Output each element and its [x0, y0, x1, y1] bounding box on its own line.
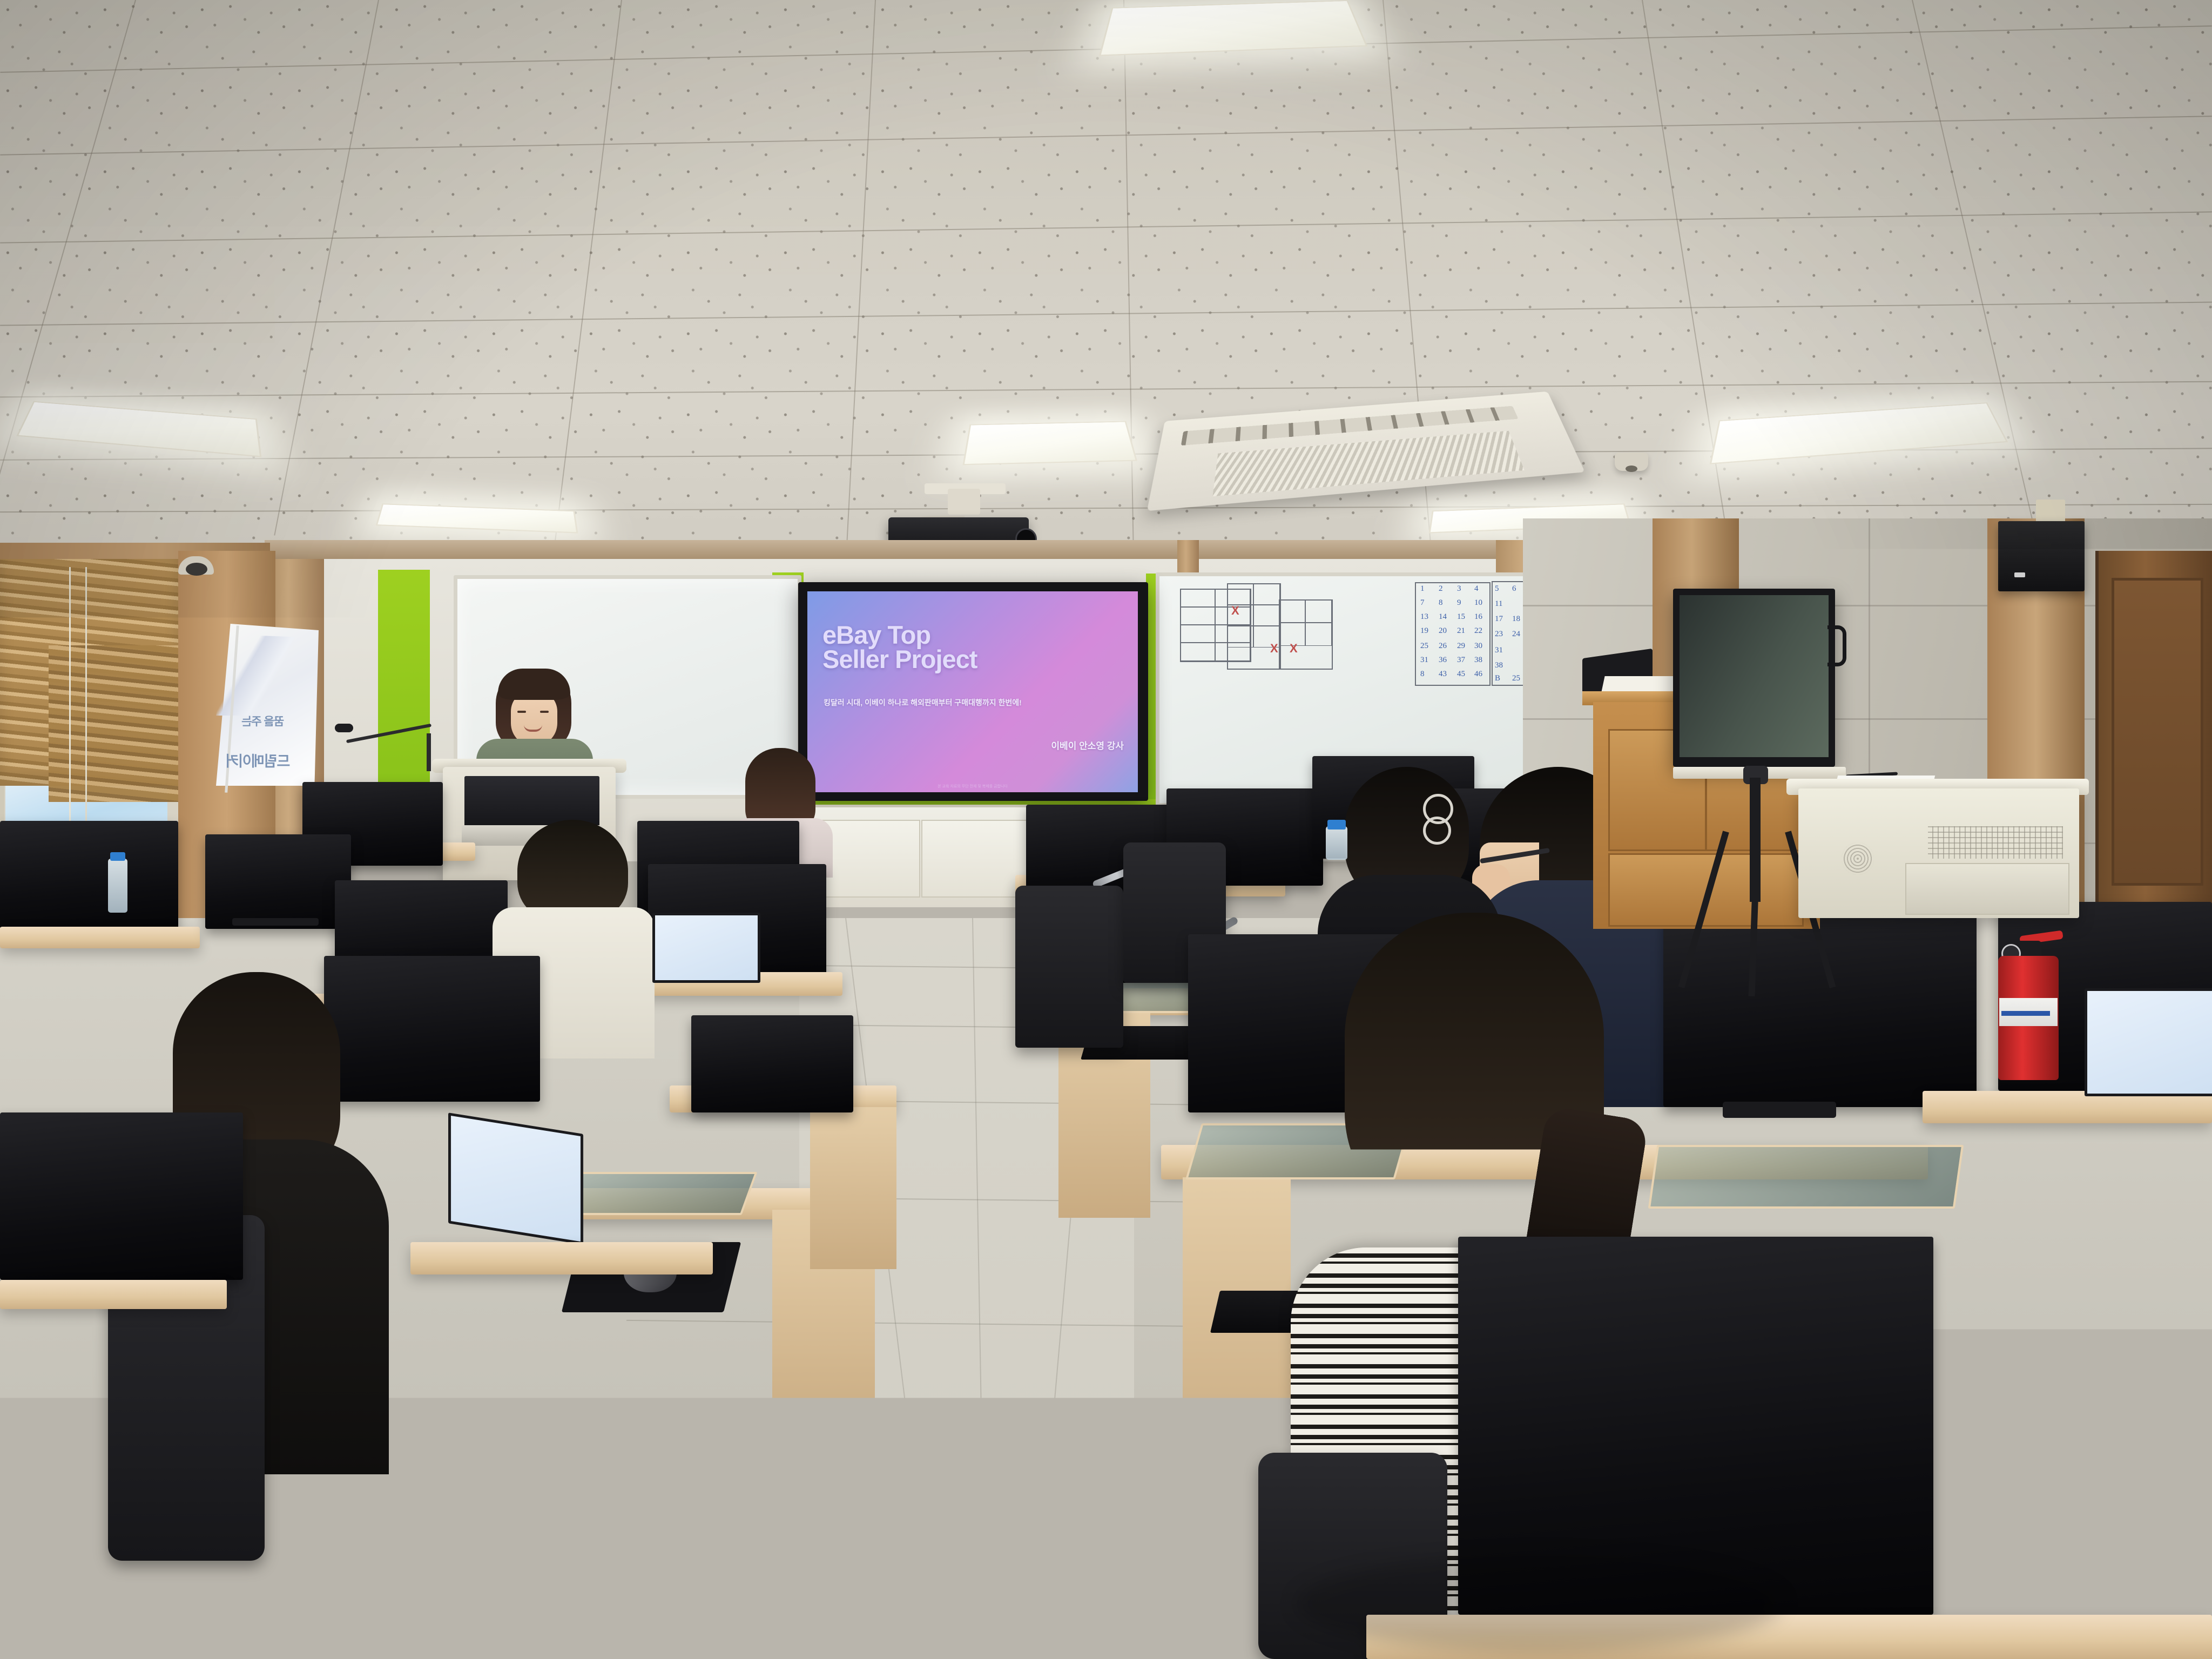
- monitor: [691, 1015, 853, 1112]
- whiteboard-seat-cell: [1279, 599, 1306, 623]
- whiteboard-number: 38: [1474, 656, 1482, 665]
- whiteboard-number: 8: [1420, 670, 1425, 679]
- bottle-cap: [1327, 820, 1346, 829]
- monitor-stand: [1723, 1102, 1836, 1118]
- pc-serial-sticker: [672, 1447, 748, 1459]
- whiteboard-seat-cell: [1180, 589, 1216, 608]
- lectern-drawer[interactable]: [1905, 863, 2069, 915]
- wall-speaker-icon: [1998, 521, 2085, 591]
- ceiling-light-panel: [1099, 0, 1368, 56]
- whiteboard-number: 9: [1457, 598, 1461, 608]
- whiteboard-number: 7: [1420, 598, 1425, 608]
- whiteboard-number: 31: [1420, 656, 1428, 665]
- floor-shadow: [486, 1534, 864, 1620]
- whiteboard-number: 16: [1474, 612, 1482, 622]
- whiteboard-number: 46: [1474, 670, 1482, 679]
- whiteboard-seat-cell: [1305, 622, 1332, 646]
- whiteboard-number: 43: [1439, 670, 1447, 679]
- desk: [0, 1280, 227, 1309]
- whiteboard-number: 45: [1457, 670, 1465, 679]
- whiteboard-number: 11: [1495, 599, 1502, 609]
- whiteboard-number: 22: [1474, 626, 1482, 636]
- whiteboard-x-mark: X: [1290, 642, 1298, 656]
- whiteboard-number: 25: [1420, 642, 1428, 651]
- whiteboard-number: 30: [1474, 642, 1482, 651]
- monitor: [205, 834, 351, 929]
- banner-text-line2: 드림메이커: [226, 750, 290, 771]
- slide-title-line2: Seller Project: [822, 645, 977, 673]
- whiteboard-number: 38: [1495, 661, 1503, 670]
- whiteboard-number: 26: [1439, 642, 1447, 651]
- monitor: [0, 1112, 243, 1280]
- whiteboard-number: 21: [1457, 626, 1465, 636]
- whiteboard-number: 17: [1495, 615, 1503, 624]
- whiteboard-seat-cell: [1227, 625, 1254, 648]
- slide-subtitle: 킹달러 시대, 이베이 하나로 해외판매부터 구매대행까지 한번에!: [824, 697, 1022, 708]
- monitor-stand: [232, 918, 319, 926]
- whiteboard-seat-cell: [1180, 642, 1216, 661]
- hair-clip-icon: [1423, 817, 1451, 845]
- whiteboard-number: 1: [1420, 584, 1425, 594]
- floor-shadow: [1296, 1555, 1782, 1653]
- water-bottle: [1326, 826, 1347, 860]
- whiteboard-seat-cell: [1253, 604, 1280, 626]
- whiteboard-number: 37: [1457, 656, 1465, 665]
- bottle-cap: [110, 852, 125, 861]
- whiteboard-number: 15: [1457, 612, 1465, 622]
- desk-side-panel: [810, 1107, 896, 1269]
- interactive-display-screen[interactable]: [1680, 595, 1829, 757]
- water-bottle: [108, 859, 127, 913]
- lectern-grille: [1928, 826, 2063, 859]
- ceiling-light-panel: [962, 421, 1137, 466]
- slide-footnote: 본 교육 자료의 무단 전재 및 복제를 금합니다: [807, 784, 1138, 789]
- whiteboard-seat-cell: [1180, 624, 1216, 643]
- monitor: [324, 956, 540, 1102]
- lectern-speaker-icon: [1842, 842, 1874, 875]
- laptop-screen: [652, 913, 760, 983]
- door-panel: [2112, 578, 2203, 886]
- whiteboard-number: 23: [1495, 630, 1503, 639]
- instructor-eye: [540, 711, 549, 713]
- laptop-screen: [448, 1112, 583, 1245]
- laptop-screen: [2085, 988, 2212, 1096]
- chair[interactable]: [1015, 886, 1123, 1048]
- instructor-eye: [517, 711, 526, 713]
- whiteboard-seat-cell: [1305, 599, 1332, 623]
- whiteboard-x-mark: X: [1231, 604, 1239, 618]
- whiteboard-number: 18: [1512, 615, 1520, 624]
- desk-glass-insert: [1648, 1145, 1964, 1209]
- classroom-photo: X X X 1 2 3 4 7 8 9 10 13 14 15 16 19 20…: [0, 0, 2212, 1659]
- presentation-slide: eBay Top Seller Project 킹달러 시대, 이베이 하나로 …: [807, 591, 1138, 792]
- camera-dome-icon: [186, 563, 207, 576]
- whiteboard-number: 24: [1512, 630, 1520, 639]
- slide-presenter: 이베이 안소영 강사: [1051, 738, 1124, 752]
- whiteboard-number: 19: [1420, 626, 1428, 636]
- whiteboard-number: 5: [1495, 584, 1499, 594]
- desk: [410, 1242, 713, 1274]
- projector-mount: [948, 489, 980, 515]
- banner-text-line1: 꿈을 주는: [242, 713, 284, 729]
- whiteboard-number: 10: [1474, 598, 1482, 608]
- whiteboard-number: 13: [1420, 612, 1428, 622]
- whiteboard-number: 20: [1439, 626, 1447, 636]
- whiteboard-number: 25: [1512, 674, 1520, 683]
- green-wall-panel: [378, 570, 430, 799]
- instructor-hair-front: [498, 669, 570, 700]
- desk-glass-insert: [564, 1172, 757, 1215]
- microphone-icon: [335, 724, 353, 732]
- ceiling-tile-texture: [0, 0, 2212, 589]
- whiteboard-number: 2: [1439, 584, 1443, 594]
- whiteboard-x-mark: X: [1270, 642, 1278, 656]
- whiteboard-number: 8: [1439, 598, 1443, 608]
- microphone-stand: [427, 733, 431, 771]
- whiteboard-number: 4: [1474, 584, 1479, 594]
- monitor: [0, 821, 178, 929]
- whiteboard-number: 31: [1495, 646, 1503, 655]
- whiteboard-number: 14: [1439, 612, 1447, 622]
- speaker-led-icon: [2014, 572, 2025, 577]
- display-handle: [1827, 625, 1846, 666]
- slide-title: eBay Top Seller Project: [822, 623, 1127, 671]
- whiteboard-number: 29: [1457, 642, 1465, 651]
- whiteboard-number: B: [1495, 674, 1500, 683]
- extinguisher-label-bar: [2001, 1011, 2050, 1016]
- whiteboard-number: 6: [1512, 584, 1516, 594]
- whiteboard-seat-cell: [1253, 583, 1280, 605]
- whiteboard-seat-cell: [1227, 583, 1254, 605]
- whiteboard-number: 3: [1457, 584, 1461, 594]
- whiteboard-seat-cell: [1180, 606, 1216, 625]
- ceiling-sensor-lens-icon: [1626, 466, 1637, 472]
- desk: [0, 927, 200, 948]
- whiteboard-number: 36: [1439, 656, 1447, 665]
